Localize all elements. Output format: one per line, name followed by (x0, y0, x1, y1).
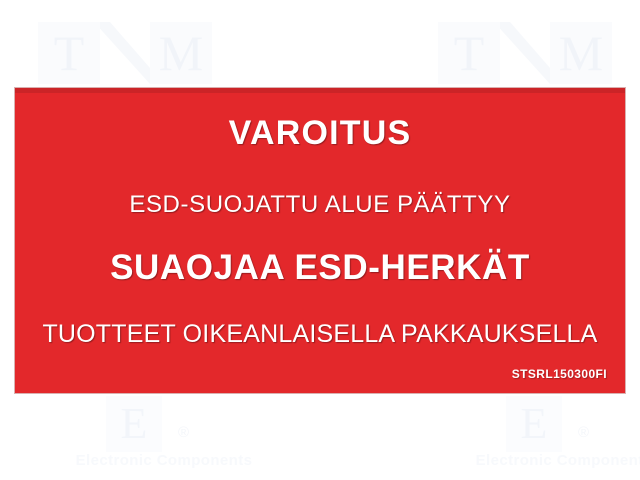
watermark-caption: Electronic Components (24, 452, 304, 469)
tme-chevron-inner-icon (510, 22, 590, 68)
tme-letter-e-icon: E (506, 396, 562, 452)
label-subtitle: ESD-SUOJATTU ALUE PÄÄTTYY (15, 191, 625, 219)
tme-letter-t-icon: T (38, 22, 100, 84)
esd-warning-label: VAROITUS ESD-SUOJATTU ALUE PÄÄTTYY SUAOJ… (15, 88, 625, 393)
label-top-edge (15, 88, 625, 93)
tme-letter-e-icon: E (106, 396, 162, 452)
label-footer-line: TUOTTEET OIKEANLAISELLA PAKKAUKSELLA (15, 320, 625, 349)
registered-trademark-icon: ® (578, 424, 589, 441)
tme-logo-watermark-bottom-left: E ® Electronic Components (58, 396, 268, 478)
label-main-line: SUAOJAA ESD-HERKÄT (15, 248, 625, 288)
tme-chevron-icon (494, 22, 606, 84)
tme-logo-watermark-bottom-right: E ® Electronic Components (458, 396, 640, 478)
tme-chevron-icon (94, 22, 206, 84)
label-title: VAROITUS (15, 114, 625, 153)
tme-letter-m-icon: M (550, 22, 612, 84)
watermark-caption: Electronic Components (424, 452, 640, 469)
screenshot-canvas: T M T M E ® Electronic Components E ® El… (0, 0, 640, 480)
product-code: STSRL150300FI (512, 367, 607, 381)
registered-trademark-icon: ® (178, 424, 189, 441)
tme-letter-t-icon: T (438, 22, 500, 84)
tme-chevron-inner-icon (110, 22, 190, 68)
tme-letter-m-icon: M (150, 22, 212, 84)
